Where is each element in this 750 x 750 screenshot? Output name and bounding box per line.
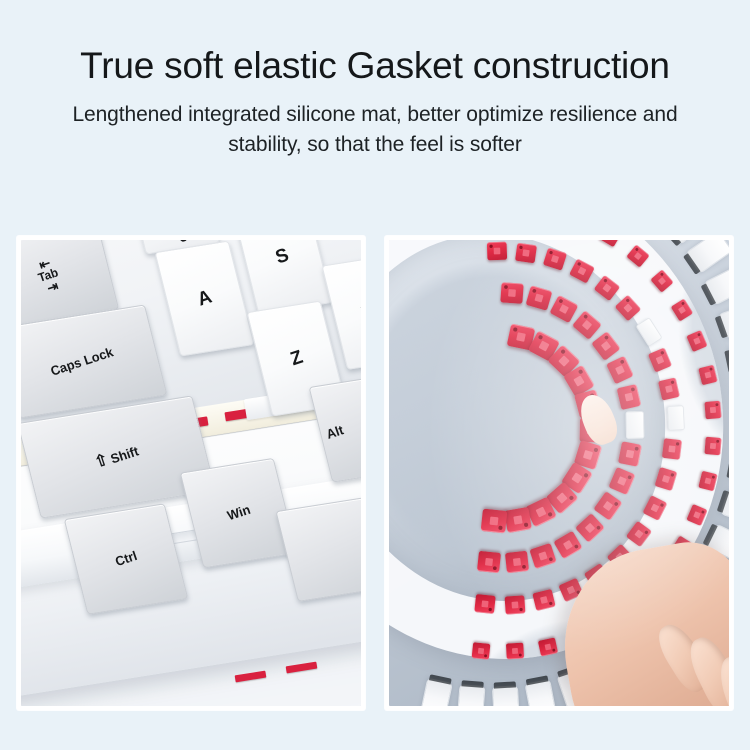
panel-keyboard-gasket-closeup: ⇤ Tab ⇥ Caps Lock ⇧ Shift Ctrl: [17, 236, 365, 710]
keycap-label: Z: [287, 346, 305, 371]
photo-flexible-plate: [389, 240, 729, 706]
page-subtitle: Lengthened integrated silicone mat, bett…: [22, 100, 728, 160]
keycap-label: S: [273, 244, 292, 269]
page-title: True soft elastic Gasket construction: [22, 44, 728, 88]
shift-up-arrow-icon: ⇧: [92, 452, 110, 471]
keycap-label: Alt: [325, 422, 346, 442]
banner-header: True soft elastic Gasket construction Le…: [0, 0, 750, 228]
keycap-label: Ctrl: [113, 549, 139, 570]
keycap-label: A: [195, 286, 215, 311]
flexible-plate-scene: [389, 240, 729, 706]
keycap-label: Q: [169, 240, 189, 245]
photo-panel-group: ⇤ Tab ⇥ Caps Lock ⇧ Shift Ctrl: [0, 236, 750, 714]
keycap-label: Shift: [108, 443, 140, 466]
keycap-label: Caps Lock: [49, 344, 116, 379]
keyboard-scene: ⇤ Tab ⇥ Caps Lock ⇧ Shift Ctrl: [21, 240, 361, 706]
panel-flexible-plate-demo: [385, 236, 733, 710]
photo-keyboard-gasket: ⇤ Tab ⇥ Caps Lock ⇧ Shift Ctrl: [21, 240, 361, 706]
keycap-label: Win: [225, 502, 252, 524]
tab-arrows-icon: ⇤ Tab ⇥: [33, 254, 64, 296]
keycap-label: X: [359, 300, 361, 324]
photo-vignette: [389, 240, 729, 706]
